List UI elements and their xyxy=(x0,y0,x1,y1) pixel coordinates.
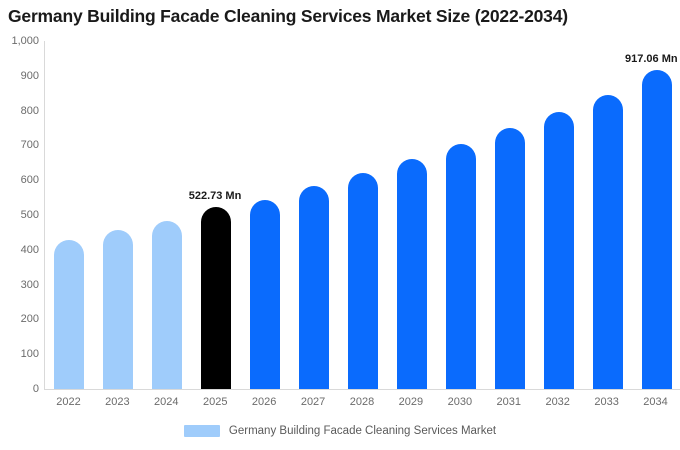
y-axis: 01002003004005006007008009001,000 xyxy=(0,41,39,389)
bar-column[interactable] xyxy=(397,41,427,389)
x-axis-tick-label: 2024 xyxy=(154,396,178,408)
bar-2024[interactable] xyxy=(152,221,182,389)
bar-column[interactable] xyxy=(544,41,574,389)
data-label-2034: 917.06 Mn xyxy=(625,53,678,65)
y-axis-tick-label: 700 xyxy=(0,139,39,151)
chart-legend: Germany Building Facade Cleaning Service… xyxy=(0,425,680,437)
data-label-2025: 522.73 Mn xyxy=(189,190,242,202)
bar-2030[interactable] xyxy=(446,144,476,389)
chart-title: Germany Building Facade Cleaning Service… xyxy=(8,6,680,27)
plot-area xyxy=(44,41,680,389)
y-axis-tick-label: 200 xyxy=(0,313,39,325)
x-axis-tick-label: 2027 xyxy=(301,396,325,408)
bar-2022[interactable] xyxy=(54,240,84,389)
bar-2033[interactable] xyxy=(593,95,623,389)
bar-column[interactable] xyxy=(250,41,280,389)
bar-2027[interactable] xyxy=(299,186,329,389)
y-axis-tick-label: 100 xyxy=(0,348,39,360)
bar-column[interactable] xyxy=(201,41,231,389)
x-axis-baseline xyxy=(44,389,680,390)
bar-column[interactable] xyxy=(593,41,623,389)
x-axis: 2022202320242025202620272028202920302031… xyxy=(44,396,680,416)
y-axis-tick-label: 900 xyxy=(0,70,39,82)
x-axis-tick-label: 2031 xyxy=(497,396,521,408)
bar-2028[interactable] xyxy=(348,173,378,389)
x-axis-tick-label: 2030 xyxy=(448,396,472,408)
legend-swatch xyxy=(184,425,220,437)
x-axis-tick-label: 2025 xyxy=(203,396,227,408)
bar-2034[interactable] xyxy=(642,70,672,389)
y-axis-tick-label: 600 xyxy=(0,174,39,186)
bar-chart: Germany Building Facade Cleaning Service… xyxy=(0,0,680,450)
bar-column[interactable] xyxy=(642,41,672,389)
legend-label: Germany Building Facade Cleaning Service… xyxy=(229,425,496,437)
x-axis-tick-label: 2023 xyxy=(105,396,129,408)
bar-2025[interactable] xyxy=(201,207,231,389)
bar-column[interactable] xyxy=(54,41,84,389)
bar-2023[interactable] xyxy=(103,230,133,389)
y-axis-tick-label: 500 xyxy=(0,209,39,221)
bar-2026[interactable] xyxy=(250,200,280,389)
bar-2031[interactable] xyxy=(495,128,525,389)
y-axis-tick-label: 1,000 xyxy=(0,35,39,47)
x-axis-tick-label: 2032 xyxy=(545,396,569,408)
x-axis-tick-label: 2029 xyxy=(399,396,423,408)
x-axis-tick-label: 2028 xyxy=(350,396,374,408)
y-axis-tick-label: 400 xyxy=(0,244,39,256)
bar-column[interactable] xyxy=(495,41,525,389)
x-axis-tick-label: 2026 xyxy=(252,396,276,408)
y-axis-tick-label: 300 xyxy=(0,279,39,291)
bar-2032[interactable] xyxy=(544,112,574,389)
y-axis-tick-label: 800 xyxy=(0,105,39,117)
bar-column[interactable] xyxy=(152,41,182,389)
bar-column[interactable] xyxy=(103,41,133,389)
x-axis-tick-label: 2033 xyxy=(594,396,618,408)
x-axis-tick-label: 2022 xyxy=(56,396,80,408)
x-axis-tick-label: 2034 xyxy=(643,396,667,408)
bar-column[interactable] xyxy=(348,41,378,389)
bar-column[interactable] xyxy=(446,41,476,389)
y-axis-tick-label: 0 xyxy=(0,383,39,395)
bar-2029[interactable] xyxy=(397,159,427,389)
bar-column[interactable] xyxy=(299,41,329,389)
